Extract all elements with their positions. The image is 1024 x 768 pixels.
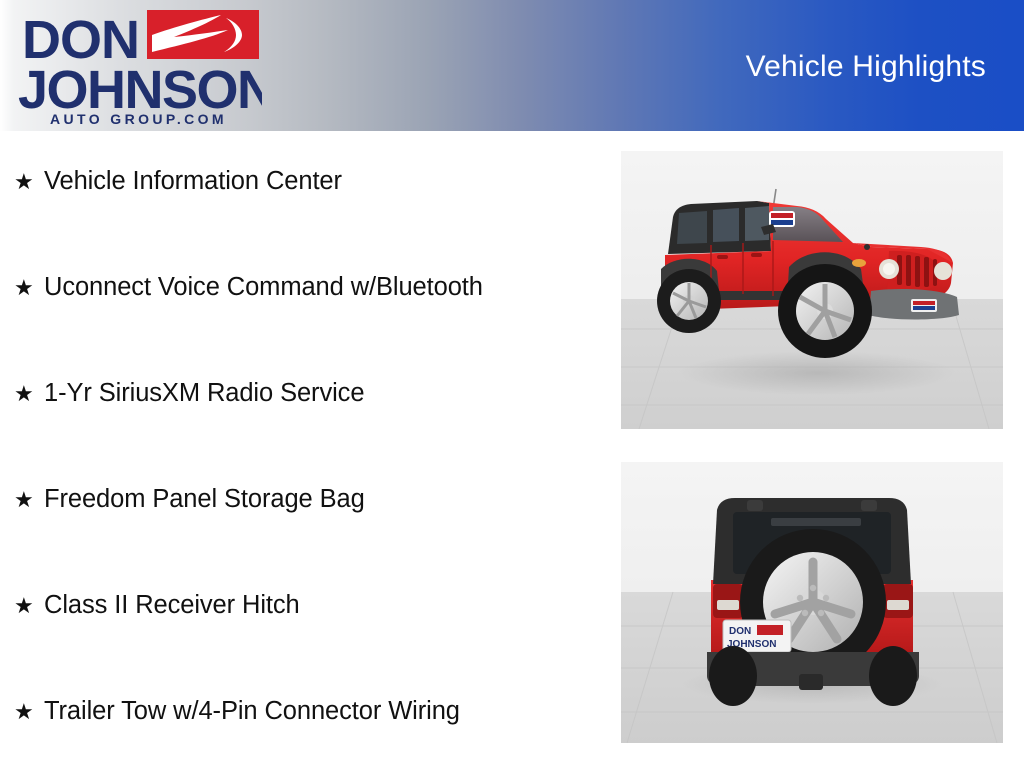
list-item: ★ Vehicle Information Center	[14, 169, 342, 195]
wheel-front	[778, 264, 872, 358]
vehicle-photo-front-three-quarter[interactable]	[621, 151, 1003, 429]
feature-label: Freedom Panel Storage Bag	[44, 487, 365, 513]
star-bullet-icon: ★	[14, 277, 44, 299]
star-bullet-icon: ★	[14, 171, 44, 193]
hinge-right	[861, 500, 877, 511]
list-item: ★ Trailer Tow w/4-Pin Connector Wiring	[14, 699, 460, 725]
window-mid	[713, 208, 739, 242]
logo-tagline: AUTO GROUP.COM	[50, 111, 227, 125]
headlight-right	[934, 262, 952, 280]
list-item: ★ Uconnect Voice Command w/Bluetooth	[14, 275, 483, 301]
logo-swoosh-box	[147, 10, 259, 59]
vehicle-photo-rear[interactable]: DON JOHNSON	[621, 462, 1003, 743]
feature-label: Class II Receiver Hitch	[44, 593, 300, 619]
wheel-right	[869, 646, 917, 706]
feature-label: Vehicle Information Center	[44, 169, 342, 195]
list-item: ★ 1-Yr SiriusXM Radio Service	[14, 381, 364, 407]
star-bullet-icon: ★	[14, 383, 44, 405]
door-handle-front	[751, 253, 762, 257]
list-item: ★ Class II Receiver Hitch	[14, 593, 300, 619]
turn-signal	[852, 259, 866, 267]
vehicle-shadow	[679, 351, 955, 395]
feature-label: Trailer Tow w/4-Pin Connector Wiring	[44, 699, 460, 725]
page-header: DON JOHNSON AUTO GROUP.COM Vehicle Highl…	[0, 0, 1024, 131]
vehicle-highlights-list: ★ Vehicle Information Center ★ Uconnect …	[0, 131, 600, 768]
plate-line1: DON	[729, 626, 751, 637]
door-handle-rear	[717, 255, 728, 259]
hood-latch	[864, 244, 870, 250]
page-title: Vehicle Highlights	[746, 49, 986, 85]
feature-label: 1-Yr SiriusXM Radio Service	[44, 381, 364, 407]
star-bullet-icon: ★	[14, 701, 44, 723]
taillight-left	[713, 584, 743, 618]
front-plate	[911, 299, 937, 312]
dealer-logo[interactable]: DON JOHNSON AUTO GROUP.COM	[14, 8, 262, 125]
window-rear	[677, 211, 707, 244]
list-item: ★ Freedom Panel Storage Bag	[14, 487, 365, 513]
wheel-rear	[657, 269, 721, 333]
star-bullet-icon: ★	[14, 595, 44, 617]
window-defroster	[771, 518, 861, 526]
wheel-left	[709, 646, 757, 706]
window-front	[745, 206, 769, 241]
jeep-rear: DON JOHNSON	[707, 498, 919, 706]
feature-label: Uconnect Voice Command w/Bluetooth	[44, 275, 483, 301]
star-bullet-icon: ★	[14, 489, 44, 511]
hinge-left	[747, 500, 763, 511]
taillight-right	[883, 584, 913, 618]
hitch-receiver	[799, 674, 823, 690]
